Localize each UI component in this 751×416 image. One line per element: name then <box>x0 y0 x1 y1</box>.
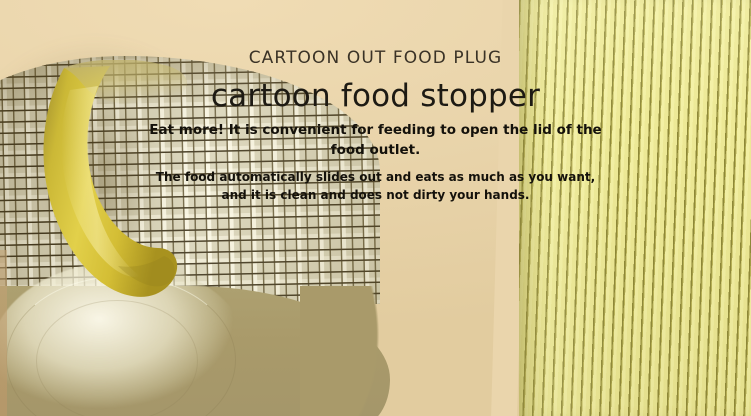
pale-dish-inner-rim <box>36 300 198 416</box>
counter-edge-curve <box>300 286 410 416</box>
yellow-food-plug <box>18 60 208 310</box>
promo-banner: CARTOON OUT FOOD PLUG cartoon food stopp… <box>0 0 751 416</box>
left-margin-strip <box>0 250 7 416</box>
slat-panel-shading <box>519 0 751 416</box>
